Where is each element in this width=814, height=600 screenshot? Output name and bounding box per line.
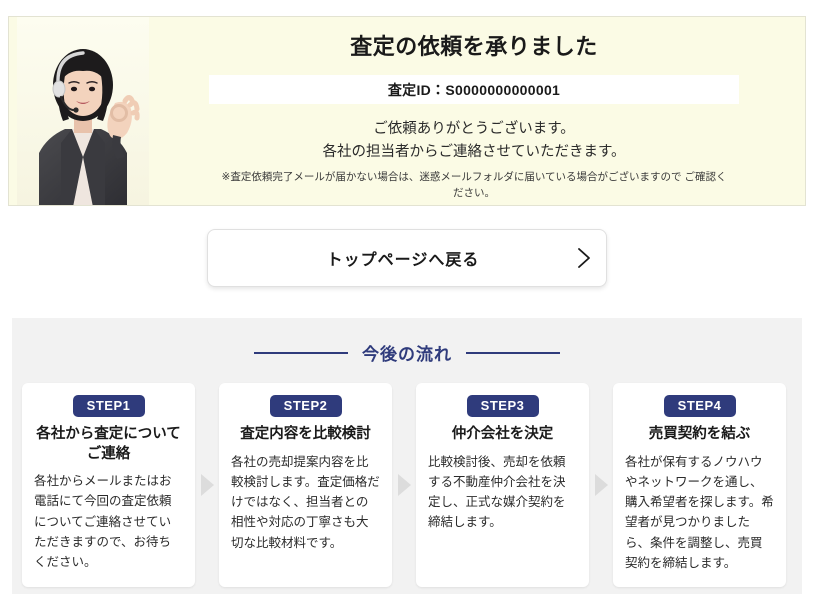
step-body-1: 各社からメールまたはお電話にて今回の査定依頼についてご連絡させていただきますので… [34,471,183,572]
arrow-right-triangle-icon [392,383,416,587]
step-card-1: STEP1 各社から査定についてご連絡 各社からメールまたはお電話にて今回の査定… [22,383,195,587]
step-card-3: STEP3 仲介会社を決定 比較検討後、売却を依頼する不動産仲介会社を決定し、正… [416,383,589,587]
chevron-right-icon [562,247,606,269]
heading-rule-left [254,352,348,354]
step-badge-3: STEP3 [467,395,539,417]
step-badge-2: STEP2 [270,395,342,417]
step-title-1: 各社から査定についてご連絡 [34,425,183,464]
step-body-2: 各社の売却提案内容を比較検討します。査定価格だけではなく、担当者との相性や対応の… [231,452,380,553]
steps-list: STEP1 各社から査定についてご連絡 各社からメールまたはお電話にて今回の査定… [12,383,802,587]
assessment-id-text: 査定ID：S0000000000001 [388,80,560,100]
step-badge-1: STEP1 [73,395,145,417]
assessment-confirmation-hero: 査定の依頼を承りました 査定ID：S0000000000001 ご依頼ありがとう… [8,16,806,206]
arrow-right-triangle-icon [195,383,219,587]
step-card-4: STEP4 売買契約を結ぶ 各社が保有するノウハウやネットワークを通し、購入希望… [613,383,786,587]
arrow-right-triangle-icon [589,383,613,587]
step-title-4: 売買契約を結ぶ [625,425,774,445]
heading-rule-right [466,352,560,354]
step-body-3: 比較検討後、売却を依頼する不動産仲介会社を決定し、正式な媒介契約を締結します。 [428,452,577,533]
back-to-top-label: トップページへ戻る [208,246,562,270]
step-title-3: 仲介会社を決定 [428,425,577,445]
step-badge-4: STEP4 [664,395,736,417]
step-body-4: 各社が保有するノウハウやネットワークを通し、購入希望者を探します。希望者が見つか… [625,452,774,574]
thanks-line-2: 各社の担当者からご連絡させていただきます。 [149,141,799,163]
assessment-id-bar: 査定ID：S0000000000001 [209,75,739,104]
page-title: 査定の依頼を承りました [149,34,799,60]
spam-folder-note: ※査定依頼完了メールが届かない場合は、迷惑メールフォルダに届いている場合がござい… [219,170,729,200]
section-title: 今後の流れ [362,340,452,365]
operator-photo [17,17,149,206]
back-to-top-button[interactable]: トップページへ戻る [207,229,607,287]
next-steps-section: 今後の流れ STEP1 各社から査定についてご連絡 各社からメールまたはお電話に… [12,318,802,594]
step-title-2: 査定内容を比較検討 [231,425,380,445]
thanks-line-1: ご依頼ありがとうございます。 [149,118,799,140]
section-heading: 今後の流れ [12,340,802,365]
step-card-2: STEP2 査定内容を比較検討 各社の売却提案内容を比較検討します。査定価格だけ… [219,383,392,587]
thanks-message: ご依頼ありがとうございます。 各社の担当者からご連絡させていただきます。 [149,118,799,163]
hero-text-block: 査定の依頼を承りました 査定ID：S0000000000001 ご依頼ありがとう… [149,17,799,206]
